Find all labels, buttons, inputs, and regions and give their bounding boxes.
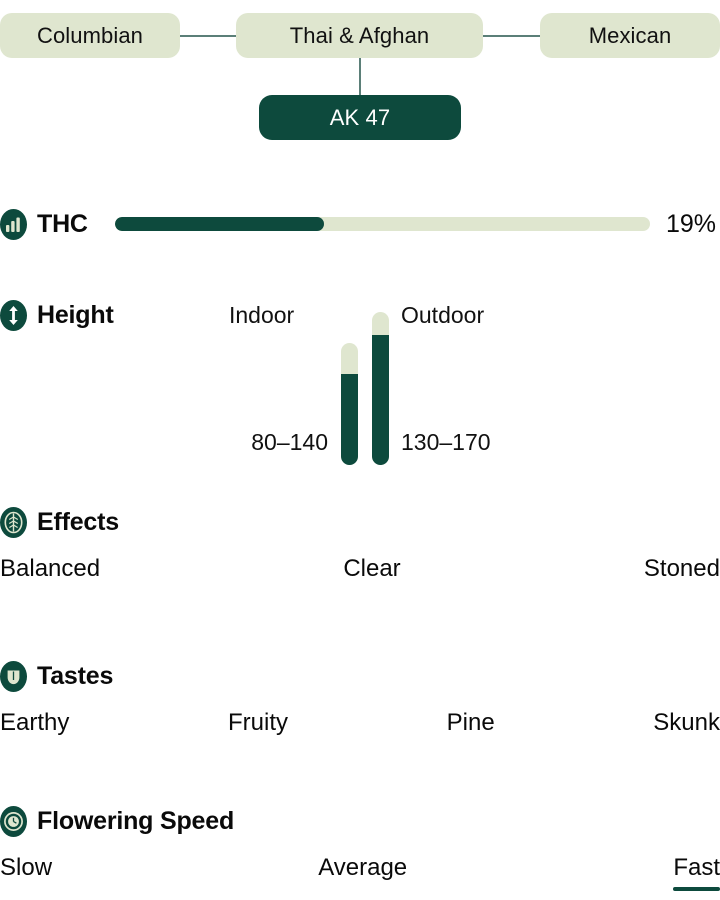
height-indoor-range: 80–140 [251, 429, 328, 456]
lineage-parent-label: Columbian [37, 23, 143, 49]
lineage-strain-label: AK 47 [330, 105, 390, 131]
effects-label: Effects [37, 508, 119, 537]
clock-icon [0, 806, 27, 837]
thc-value: 19% [666, 210, 716, 239]
tastes-header: Tastes [0, 659, 720, 693]
lineage-parent-thai-afghan[interactable]: Thai & Afghan [236, 13, 483, 58]
lineage-parent-label: Thai & Afghan [290, 23, 430, 49]
effects-option-clear[interactable]: Clear [343, 555, 400, 592]
bar-chart-icon [0, 209, 27, 240]
effects-option-stoned[interactable]: Stoned [644, 555, 720, 592]
height-chart: Indoor Outdoor 80–140 130–170 [0, 298, 720, 468]
lineage-tree: Columbian Thai & Afghan Mexican AK 47 [0, 0, 720, 150]
flowering-speed-header: Flowering Speed [0, 804, 720, 838]
flowering-option-slow[interactable]: Slow [0, 854, 52, 891]
height-bar-outdoor [372, 312, 389, 465]
height-section: Height Indoor Outdoor 80–140 130–170 [0, 298, 720, 468]
thc-progress-track[interactable] [115, 217, 650, 231]
height-bar-indoor [341, 343, 358, 465]
lineage-connector-left [180, 35, 236, 37]
thc-row: THC 19% [0, 206, 720, 242]
flowering-option-average[interactable]: Average [318, 854, 407, 891]
tastes-option-pine[interactable]: Pine [447, 709, 495, 746]
effects-header: Effects [0, 505, 720, 539]
thc-progress-fill [115, 217, 324, 231]
tastes-option-skunk[interactable]: Skunk [653, 709, 720, 746]
height-bar-indoor-fill [341, 374, 358, 465]
tastes-option-earthy[interactable]: Earthy [0, 709, 69, 746]
flowering-speed-section: Flowering Speed Slow Average Fast [0, 804, 720, 891]
effects-section: Effects Balanced Clear Stoned [0, 505, 720, 592]
tastes-section: Tastes Earthy Fruity Pine Skunk [0, 659, 720, 746]
tastes-option-fruity[interactable]: Fruity [228, 709, 288, 746]
thc-label: THC [37, 210, 109, 239]
height-bar-outdoor-fill [372, 335, 389, 465]
lineage-parent-mexican[interactable]: Mexican [540, 13, 720, 58]
lineage-strain-ak47[interactable]: AK 47 [259, 95, 461, 140]
height-outdoor-range: 130–170 [401, 429, 491, 456]
flowering-speed-label: Flowering Speed [37, 807, 234, 836]
flowering-option-fast[interactable]: Fast [673, 854, 720, 891]
effects-option-balanced[interactable]: Balanced [0, 555, 100, 592]
tastes-scale: Earthy Fruity Pine Skunk [0, 709, 720, 746]
flowering-speed-scale: Slow Average Fast [0, 854, 720, 891]
thc-section: THC 19% [0, 206, 720, 242]
tastes-label: Tastes [37, 662, 113, 691]
lineage-parent-columbian[interactable]: Columbian [0, 13, 180, 58]
height-indoor-label: Indoor [229, 302, 294, 329]
height-outdoor-label: Outdoor [401, 302, 484, 329]
effects-scale: Balanced Clear Stoned [0, 555, 720, 592]
lineage-connector-right [483, 35, 540, 37]
lineage-parent-label: Mexican [589, 23, 672, 49]
brain-icon [0, 507, 27, 538]
tongue-icon [0, 661, 27, 692]
